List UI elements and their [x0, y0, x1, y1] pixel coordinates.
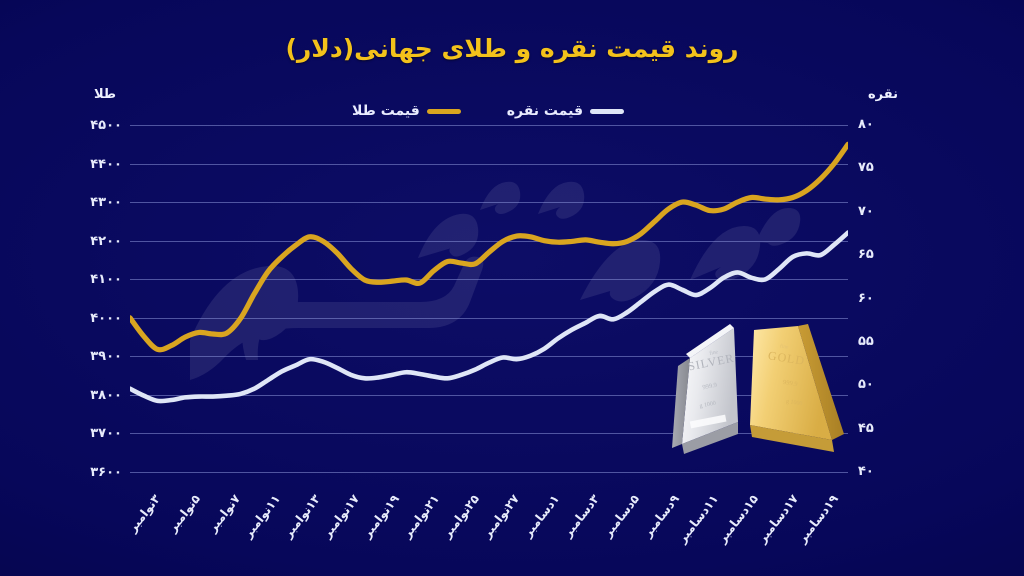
chart-svg: [130, 125, 848, 480]
right-axis-tick-label: ۸۰: [858, 117, 906, 133]
legend-label-gold: قیمت طلا: [352, 103, 420, 119]
gridlines: [130, 126, 848, 473]
x-axis-tick-label: ۵نوامبر: [157, 492, 203, 545]
x-axis-tick-label: ۲۷نوامبر: [476, 492, 522, 545]
right-axis-caption: نقره: [860, 87, 906, 102]
x-axis-tick-label: ۱۹دسامبر: [796, 492, 842, 545]
left-axis-tick-label: ۳۷۰۰: [64, 426, 122, 442]
left-axis-tick-label: ۳۶۰۰: [64, 465, 122, 481]
left-axis-tick-label: ۴۰۰۰: [64, 311, 122, 327]
legend-item-silver[interactable]: قیمت نقره: [507, 103, 624, 119]
x-axis-tick-label: ۳دسامبر: [556, 492, 602, 545]
right-axis-tick-label: ۴۵: [858, 421, 906, 437]
x-axis-tick-label: ۵دسامبر: [596, 492, 642, 545]
left-axis-tick-label: ۴۳۰۰: [64, 195, 122, 211]
x-axis-tick-label: ۱۹نوامبر: [357, 492, 403, 545]
right-axis-tick-label: ۷۵: [858, 160, 906, 176]
x-axis-tick-label: ۱۳نوامبر: [277, 492, 323, 545]
silver-series-line: [130, 233, 848, 402]
x-axis-tick-label: ۷نوامبر: [197, 492, 243, 545]
x-axis-tick-label: ۲۵نوامبر: [437, 492, 483, 545]
chart-canvas: روند قیمت نقره و طلای جهانی(دلار) طلا نق…: [0, 0, 1024, 576]
page-title: روند قیمت نقره و طلای جهانی(دلار): [0, 34, 1024, 63]
left-axis-tick-label: ۴۵۰۰: [64, 118, 122, 134]
left-axis-tick-label: ۴۴۰۰: [64, 157, 122, 173]
left-axis-caption: طلا: [82, 87, 128, 102]
left-axis-tick-label: ۴۱۰۰: [64, 272, 122, 288]
x-axis-tick-label: ۱۷نوامبر: [317, 492, 363, 545]
right-axis-tick-label: ۴۰: [858, 464, 906, 480]
legend-item-gold[interactable]: قیمت طلا: [352, 103, 461, 119]
right-axis-tick-label: ۵۰: [858, 377, 906, 393]
legend-label-silver: قیمت نقره: [507, 103, 583, 119]
x-axis-tick-label: ۱۱نوامبر: [237, 492, 283, 545]
left-axis-tick-label: ۳۹۰۰: [64, 349, 122, 365]
x-axis-tick-label: ۲۱نوامبر: [397, 492, 443, 545]
right-axis-tick-label: ۷۰: [858, 204, 906, 220]
x-axis-tick-label: ۳نوامبر: [117, 492, 163, 545]
legend-swatch-silver-icon: [590, 109, 624, 114]
x-axis-tick-label: ۱دسامبر: [516, 492, 562, 545]
left-axis-tick-label: ۴۲۰۰: [64, 234, 122, 250]
legend-swatch-gold-icon: [427, 109, 461, 114]
plot-area: [130, 125, 848, 480]
right-axis-tick-label: ۶۰: [858, 291, 906, 307]
right-axis-tick-label: ۵۵: [858, 334, 906, 350]
right-axis-tick-label: ۶۵: [858, 247, 906, 263]
left-axis-tick-label: ۳۸۰۰: [64, 388, 122, 404]
legend: قیمت طلا قیمت نقره: [352, 100, 624, 122]
